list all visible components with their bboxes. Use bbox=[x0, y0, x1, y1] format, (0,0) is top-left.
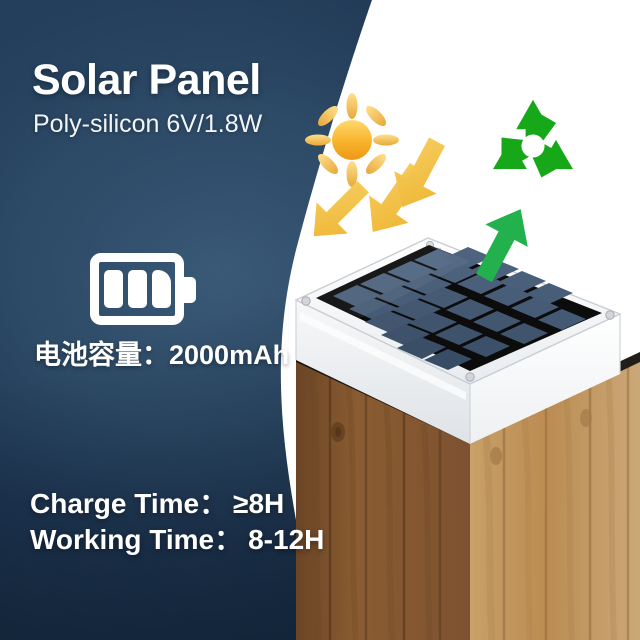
battery-bar bbox=[128, 270, 147, 308]
working-time-label: Working Time： bbox=[30, 524, 242, 555]
battery-capacity-label: 电池容量：2000mAh bbox=[34, 333, 289, 372]
product-marketing-image: Solar Panel Poly-silicon 6V/1.8W 电池容量：20… bbox=[0, 0, 640, 640]
battery-bar bbox=[104, 270, 123, 308]
page-title: Solar Panel bbox=[32, 56, 261, 105]
working-time-row: Working Time：8-12H bbox=[30, 522, 324, 558]
battery-bar bbox=[152, 270, 171, 308]
product-subtitle: Poly-silicon 6V/1.8W bbox=[33, 110, 262, 139]
sun-disc bbox=[332, 120, 372, 160]
battery-terminal bbox=[184, 277, 196, 303]
working-time-value: 8-12H bbox=[248, 524, 324, 555]
charge-time-row: Charge Time：≥8H bbox=[30, 486, 324, 522]
charge-time-label: Charge Time： bbox=[30, 488, 227, 519]
charge-time-value: ≥8H bbox=[233, 488, 284, 519]
battery-three-bars-icon bbox=[90, 253, 202, 325]
spec-list: Charge Time：≥8H Working Time：8-12H bbox=[30, 486, 324, 559]
